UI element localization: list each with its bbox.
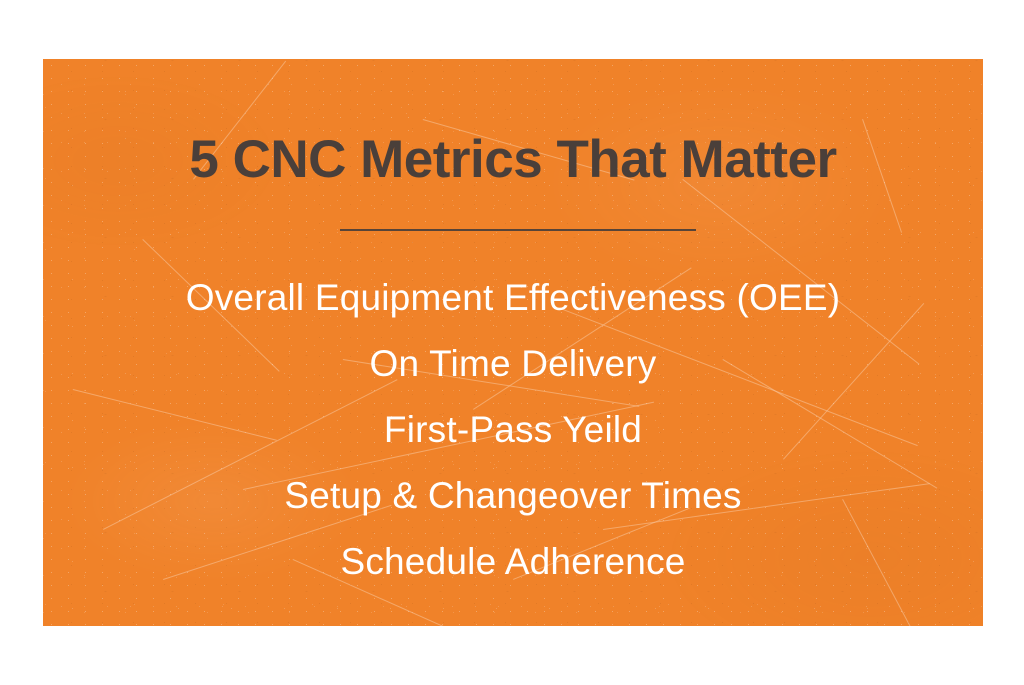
- list-item: First-Pass Yeild: [43, 397, 983, 463]
- list-item: Overall Equipment Effectiveness (OEE): [43, 265, 983, 331]
- orange-content-panel: 5 CNC Metrics That Matter Overall Equipm…: [43, 59, 983, 626]
- list-item: Schedule Adherence: [43, 529, 983, 595]
- page-title: 5 CNC Metrics That Matter: [43, 133, 983, 186]
- title-divider: [340, 229, 696, 231]
- metrics-list: Overall Equipment Effectiveness (OEE) On…: [43, 265, 983, 595]
- list-item: On Time Delivery: [43, 331, 983, 397]
- list-item: Setup & Changeover Times: [43, 463, 983, 529]
- slide-canvas: 5 CNC Metrics That Matter Overall Equipm…: [0, 0, 1024, 685]
